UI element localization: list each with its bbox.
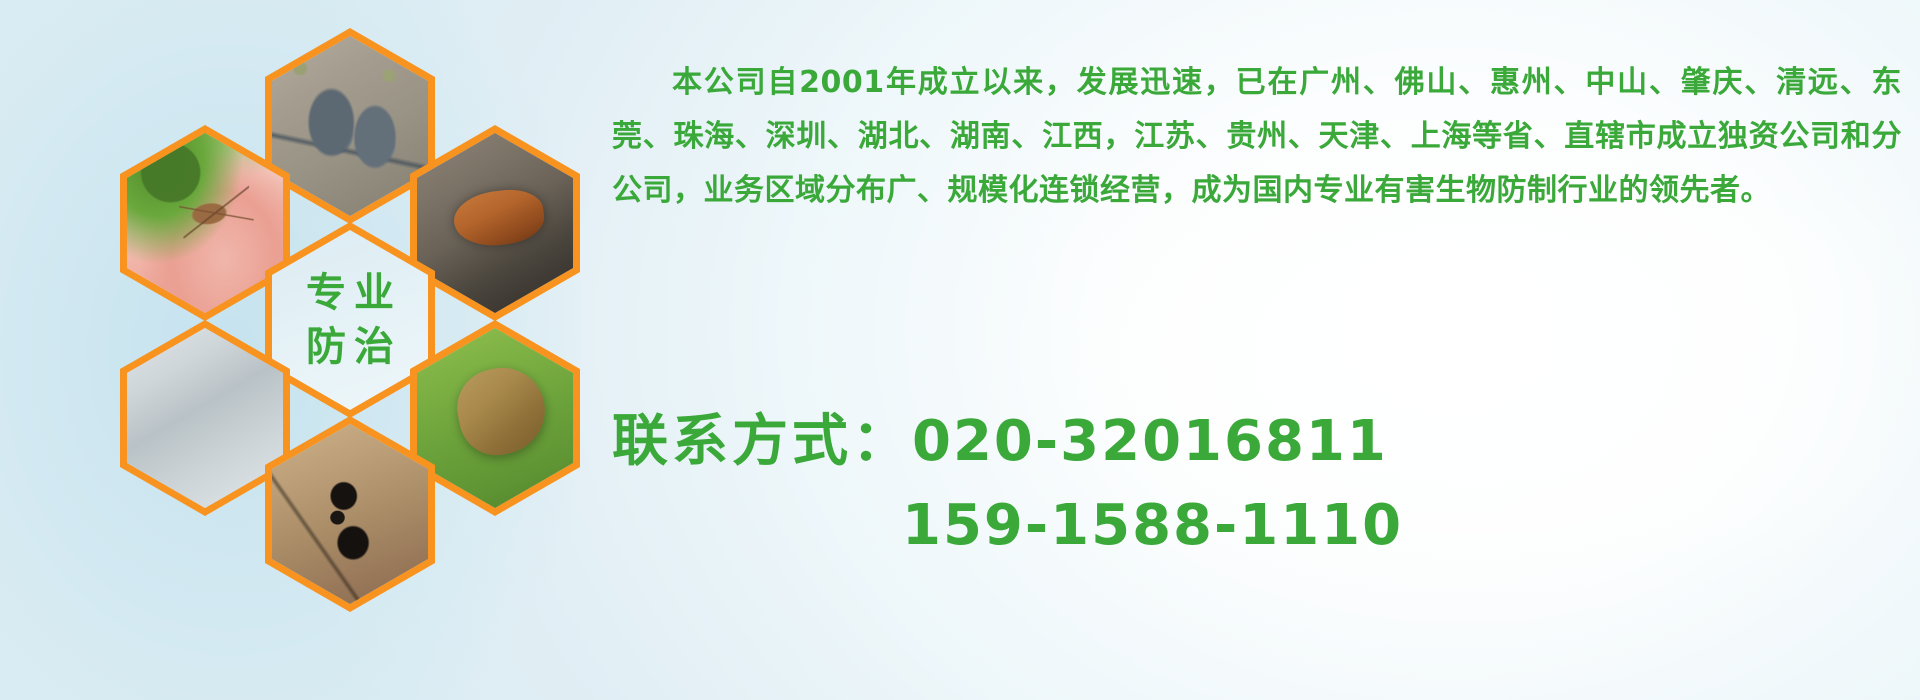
intro-paragraph: 本公司自2001年成立以来，发展迅速，已在广州、佛山、惠州、中山、肇庆、清远、东…: [612, 56, 1902, 218]
hex-inner: 专业 防治: [272, 230, 428, 410]
flies-photo: [127, 328, 283, 508]
hex-cell-mosquito[interactable]: [120, 125, 290, 321]
hex-cell-rodent[interactable]: [265, 28, 435, 224]
hex-cell-flies[interactable]: [120, 320, 290, 516]
honeycomb-label-line2: 防治: [298, 320, 402, 374]
hex-cell-ant[interactable]: [265, 416, 435, 612]
hex-inner: [127, 328, 283, 508]
hex-cell-shieldbug[interactable]: [410, 320, 580, 516]
hex-inner: [127, 133, 283, 313]
contact-primary-line: 联系方式：020-32016811: [612, 400, 1902, 484]
contact-label: 联系方式：: [612, 409, 912, 474]
cockroach-photo: [417, 133, 573, 313]
contact-secondary-line: 159-1588-1110: [612, 484, 1902, 568]
hex-inner: [417, 328, 573, 508]
phone-primary[interactable]: 020-32016811: [912, 409, 1388, 474]
honeycomb-collage: 专业 防治: [80, 0, 600, 560]
hex-inner: [272, 36, 428, 216]
hex-cell-label: 专业 防治: [265, 222, 435, 418]
hex-inner: [417, 133, 573, 313]
ant-photo: [272, 424, 428, 604]
rodent-photo: [272, 36, 428, 216]
hex-cell-cockroach[interactable]: [410, 125, 580, 321]
honeycomb-label-line1: 专业: [298, 266, 402, 320]
shieldbug-photo: [417, 328, 573, 508]
intro-copy-block: 本公司自2001年成立以来，发展迅速，已在广州、佛山、惠州、中山、肇庆、清远、东…: [612, 26, 1902, 248]
mosquito-photo: [127, 133, 283, 313]
phone-secondary[interactable]: 159-1588-1110: [902, 493, 1403, 558]
banner-stage: 专业 防治 本公司自2001年成立以来，发展迅速，已在广州、佛山、惠州、中山、肇…: [0, 0, 1920, 700]
hex-inner: [272, 424, 428, 604]
contact-block: 联系方式：020-32016811 159-1588-1110: [612, 400, 1902, 568]
